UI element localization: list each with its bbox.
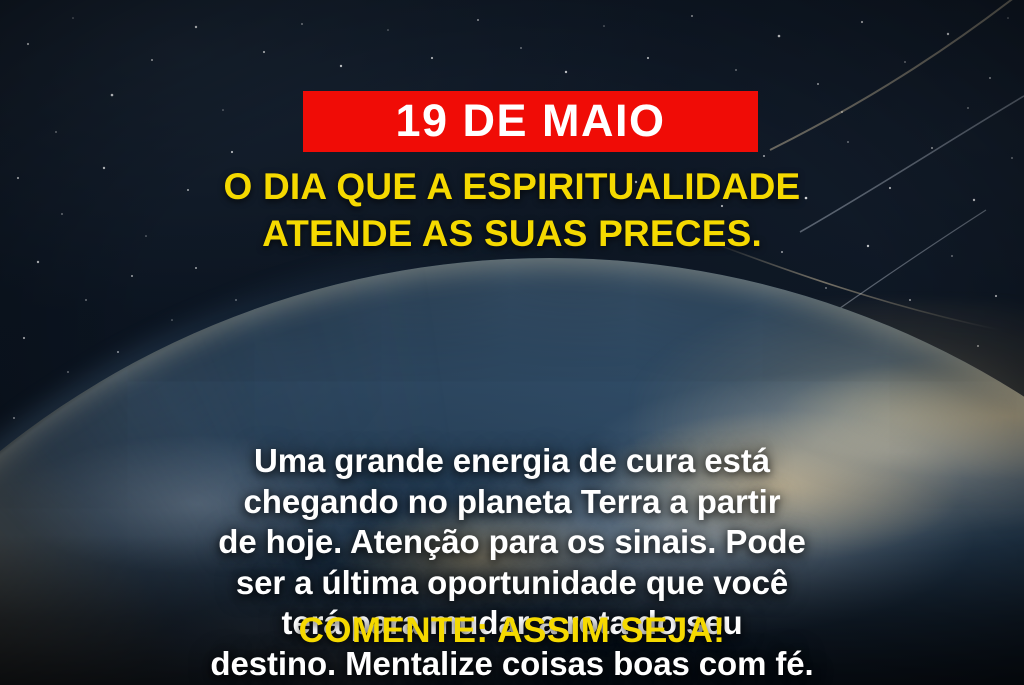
headline: O DIA QUE A ESPIRITUALIDADE ATENDE AS SU…	[0, 164, 1024, 257]
body-line-1: Uma grande energia de cura está	[0, 441, 1024, 482]
cta-text: COMENTE: ASSIM SEJA!	[0, 613, 1024, 648]
poster: 19 DE MAIO O DIA QUE A ESPIRITUALIDADE A…	[0, 0, 1024, 685]
body-line-2: chegando no planeta Terra a partir	[0, 482, 1024, 523]
headline-line-2: ATENDE AS SUAS PRECES.	[0, 211, 1024, 258]
body-line-3: de hoje. Atenção para os sinais. Pode	[0, 522, 1024, 563]
date-banner-text: 19 DE MAIO	[395, 98, 665, 143]
headline-line-1: O DIA QUE A ESPIRITUALIDADE	[0, 164, 1024, 211]
body-line-4: ser a última oportunidade que você	[0, 563, 1024, 604]
date-banner: 19 DE MAIO	[303, 91, 758, 152]
